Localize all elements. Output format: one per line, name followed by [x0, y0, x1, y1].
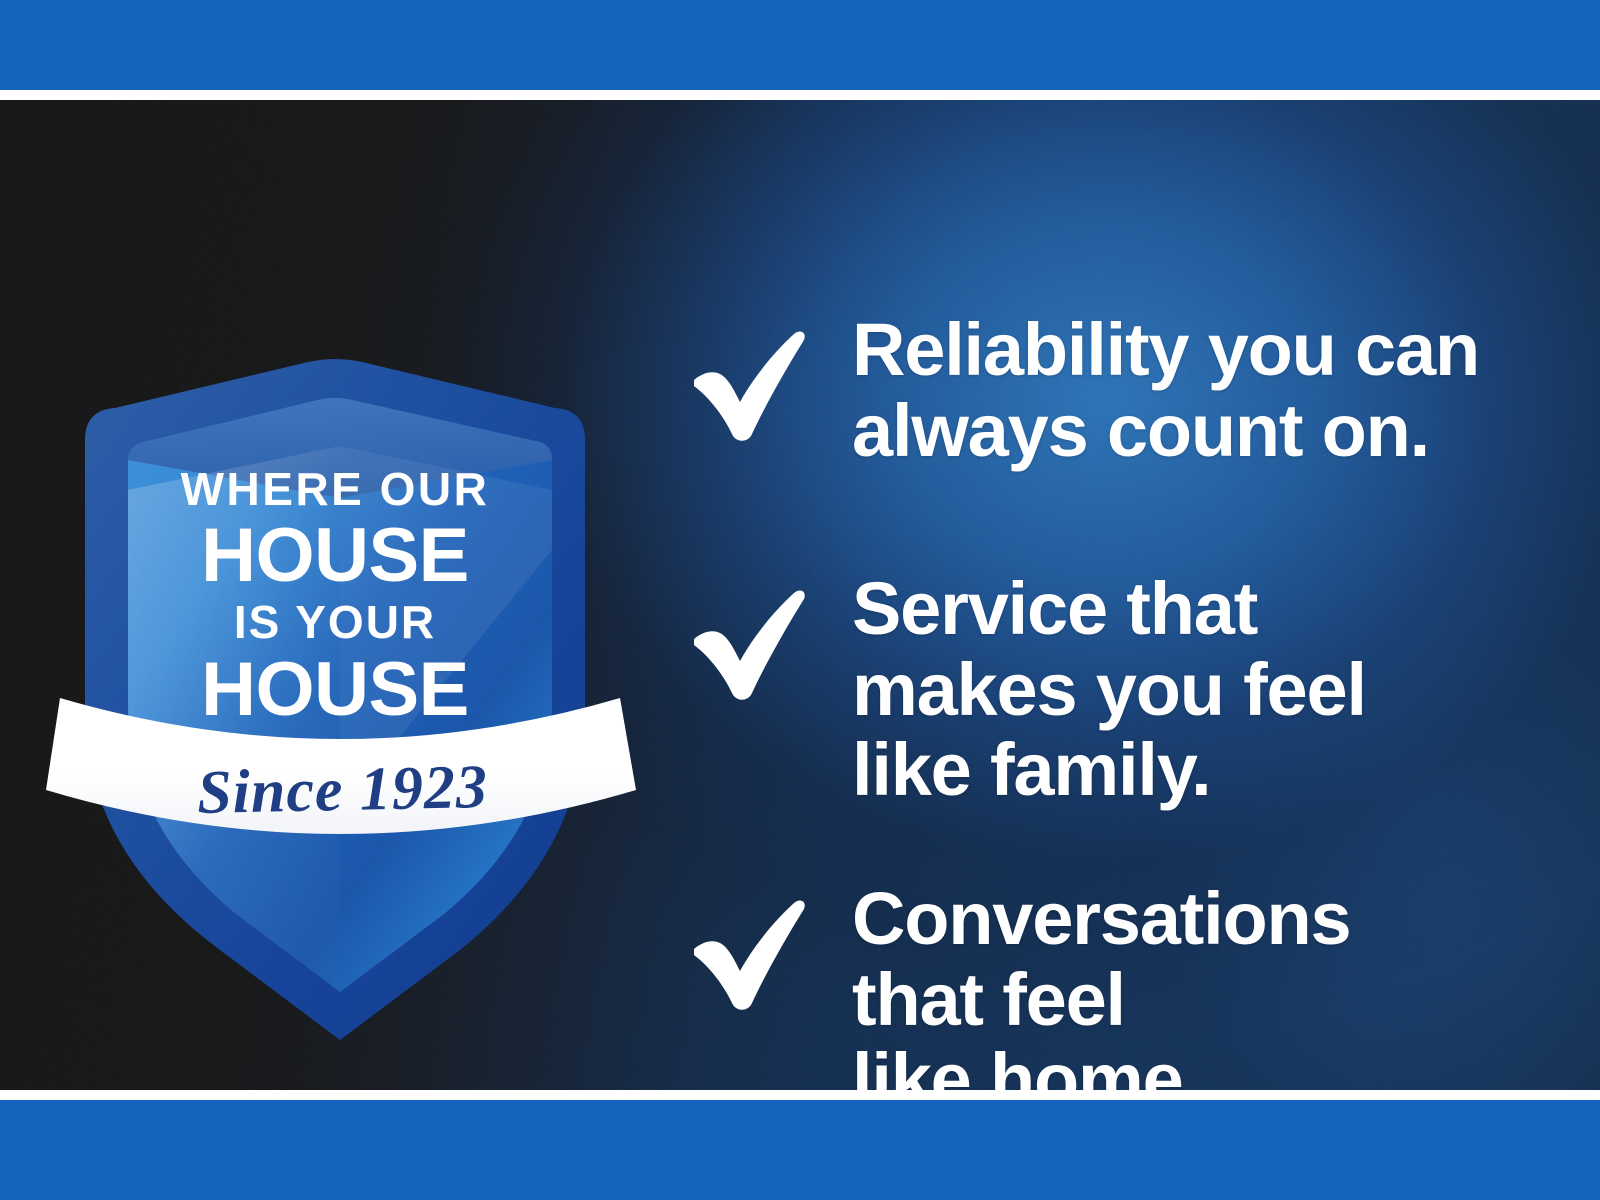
check-icon: [676, 893, 816, 1013]
logo-line-is-your: Is Your: [85, 599, 585, 645]
bottom-brand-bar: [0, 1100, 1600, 1200]
main-panel: Where Our House Is Your House Since 1923…: [0, 100, 1600, 1090]
list-item-label: Reliability you can always count on.: [852, 310, 1556, 471]
logo-line-house-top: House: [85, 518, 585, 594]
logo-line-where-our: Where Our: [85, 466, 585, 512]
list-item: Service that makes you feel like family.: [676, 575, 1556, 811]
list-item: Reliability you can always count on.: [676, 316, 1556, 471]
list-item-label: Service that makes you feel like family.: [852, 569, 1556, 811]
check-icon: [676, 583, 816, 703]
logo-line-house-bottom: House: [85, 652, 585, 728]
logo-lockup: Where Our House Is Your House Since 1923: [40, 250, 660, 1070]
ribbon-since-label: Since 1923: [64, 749, 620, 832]
promo-graphic: Where Our House Is Your House Since 1923…: [0, 0, 1600, 1200]
list-item: Conversations that feel like home.: [676, 885, 1556, 1090]
list-item-label: Conversations that feel like home.: [852, 879, 1556, 1090]
top-brand-bar: [0, 0, 1600, 90]
check-icon: [676, 324, 816, 444]
